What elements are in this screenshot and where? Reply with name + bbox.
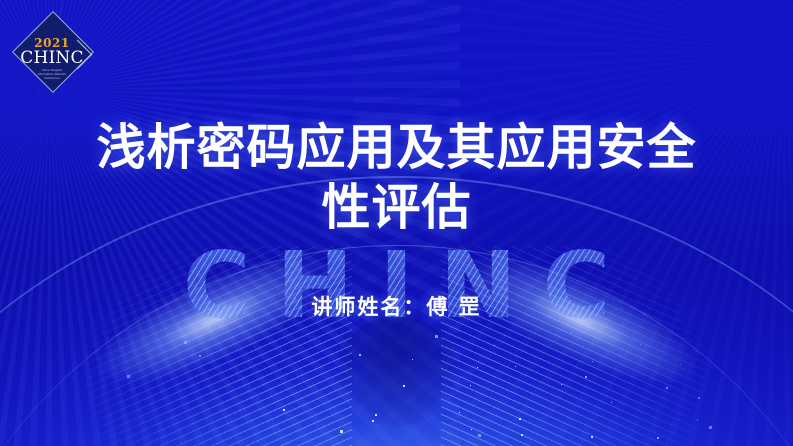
slide-title: 浅析密码应用及其应用安全 性评估 <box>50 118 743 238</box>
logo-tagline: China Hospital Information Network Confe… <box>14 69 90 81</box>
presenter-line: 讲师姓名：傅 罡 <box>0 291 793 321</box>
logo-wordmark: CHINC <box>14 50 90 67</box>
presentation-slide: CHINC 2021 CHINC China Hospital Informat… <box>0 0 793 446</box>
presenter-name: 傅 罡 <box>426 295 481 319</box>
chinc-logo[interactable]: 2021 CHINC China Hospital Information Ne… <box>14 13 90 89</box>
presenter-label: 讲师姓名： <box>311 295 426 319</box>
slide-title-line-2: 性评估 <box>50 178 743 238</box>
slide-title-line-1: 浅析密码应用及其应用安全 <box>50 118 743 178</box>
